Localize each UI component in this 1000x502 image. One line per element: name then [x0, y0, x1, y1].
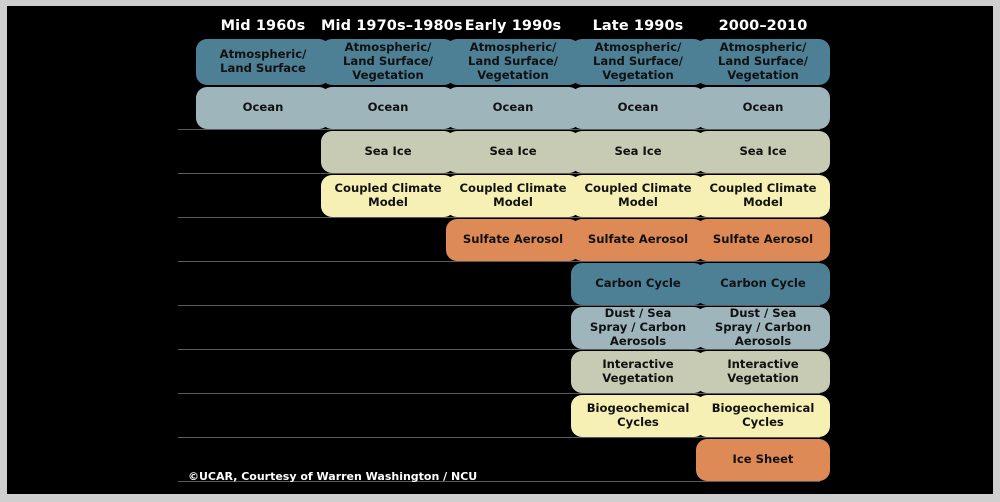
row-separator-2 [178, 217, 820, 218]
column-header-3: Late 1990s [571, 16, 705, 36]
row-separator-7 [178, 437, 820, 438]
component-box-ice-sheet-col4[interactable]: Ice Sheet [696, 439, 830, 481]
component-box-ocean-col2[interactable]: Ocean [446, 87, 580, 129]
component-box-biogeochemical-cycles-col4[interactable]: Biogeochemical Cycles [696, 395, 830, 437]
component-box-coupled-climate-model-col1[interactable]: Coupled Climate Model [321, 175, 455, 217]
column-header-2: Early 1990s [446, 16, 580, 36]
component-box-ocean-col3[interactable]: Ocean [571, 87, 705, 129]
component-box-interactive-vegetation-col3[interactable]: Interactive Vegetation [571, 351, 705, 393]
component-box-biogeochemical-cycles-col3[interactable]: Biogeochemical Cycles [571, 395, 705, 437]
component-box-atmosphere-land-col1[interactable]: Atmospheric/ Land Surface/ Vegetation [321, 39, 455, 85]
component-box-atmosphere-land-col4[interactable]: Atmospheric/ Land Surface/ Vegetation [696, 39, 830, 85]
figure-frame: Mid 1960sMid 1970s–1980sEarly 1990sLate … [0, 0, 1000, 502]
component-box-ocean-col0[interactable]: Ocean [196, 87, 330, 129]
component-box-atmosphere-land-col0[interactable]: Atmospheric/ Land Surface [196, 39, 330, 85]
component-box-interactive-vegetation-col4[interactable]: Interactive Vegetation [696, 351, 830, 393]
component-box-sea-ice-col4[interactable]: Sea Ice [696, 131, 830, 173]
component-box-carbon-cycle-col4[interactable]: Carbon Cycle [696, 263, 830, 305]
component-box-atmosphere-land-col2[interactable]: Atmospheric/ Land Surface/ Vegetation [446, 39, 580, 85]
diagram-canvas: Mid 1960sMid 1970s–1980sEarly 1990sLate … [7, 6, 993, 494]
component-box-sulfate-aerosol-col4[interactable]: Sulfate Aerosol [696, 219, 830, 261]
row-separator-3 [178, 261, 820, 262]
row-separator-0 [178, 129, 820, 130]
row-separator-4 [178, 305, 820, 306]
component-box-coupled-climate-model-col3[interactable]: Coupled Climate Model [571, 175, 705, 217]
component-box-atmosphere-land-col3[interactable]: Atmospheric/ Land Surface/ Vegetation [571, 39, 705, 85]
component-box-sea-ice-col1[interactable]: Sea Ice [321, 131, 455, 173]
component-box-sea-ice-col2[interactable]: Sea Ice [446, 131, 580, 173]
row-separator-6 [178, 393, 820, 394]
component-box-ocean-col4[interactable]: Ocean [696, 87, 830, 129]
component-box-ocean-col1[interactable]: Ocean [321, 87, 455, 129]
component-box-dust-sea-spray-carbon-aerosols-col4[interactable]: Dust / Sea Spray / Carbon Aerosols [696, 307, 830, 349]
component-box-coupled-climate-model-col4[interactable]: Coupled Climate Model [696, 175, 830, 217]
component-box-sulfate-aerosol-col2[interactable]: Sulfate Aerosol [446, 219, 580, 261]
row-separator-1 [178, 173, 820, 174]
column-header-0: Mid 1960s [196, 16, 330, 36]
component-box-dust-sea-spray-carbon-aerosols-col3[interactable]: Dust / Sea Spray / Carbon Aerosols [571, 307, 705, 349]
component-box-sulfate-aerosol-col3[interactable]: Sulfate Aerosol [571, 219, 705, 261]
component-box-sea-ice-col3[interactable]: Sea Ice [571, 131, 705, 173]
credit-line: ©UCAR, Courtesy of Warren Washington / N… [188, 470, 477, 483]
component-box-carbon-cycle-col3[interactable]: Carbon Cycle [571, 263, 705, 305]
column-header-4: 2000–2010 [696, 16, 830, 36]
column-header-1: Mid 1970s–1980s [321, 16, 455, 36]
row-separator-5 [178, 349, 820, 350]
component-box-coupled-climate-model-col2[interactable]: Coupled Climate Model [446, 175, 580, 217]
